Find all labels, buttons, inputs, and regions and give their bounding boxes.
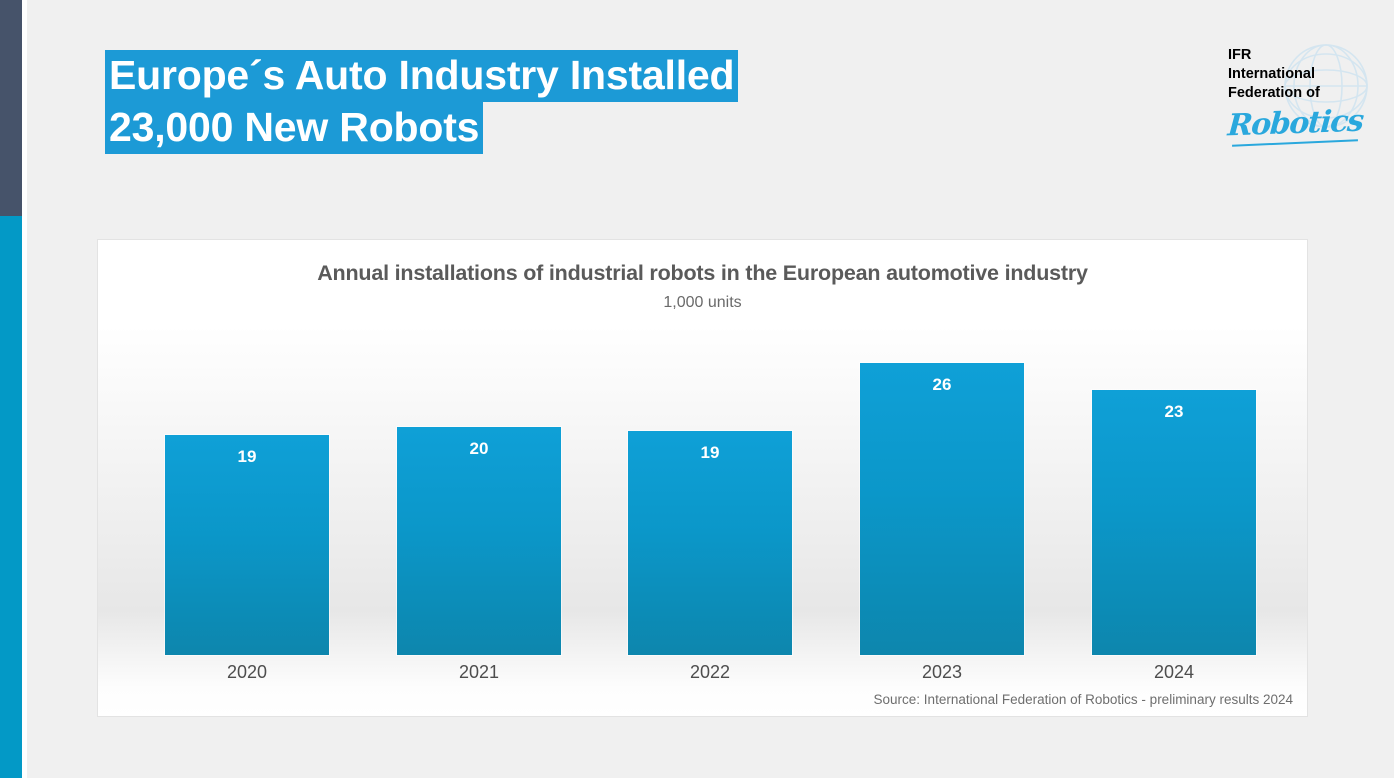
sidebar-divider [22, 0, 27, 778]
ifr-logo: IFR International Federation of Robotics [1228, 38, 1378, 153]
sidebar-accent-strip-bottom [0, 216, 22, 778]
ifr-logo-text: IFR International Federation of [1228, 46, 1320, 103]
ifr-logo-line-2: International [1228, 65, 1320, 84]
bar-2023[interactable]: 262023 [860, 363, 1024, 655]
ifr-logo-line-1: IFR [1228, 46, 1320, 65]
bar-2020[interactable]: 192020 [165, 435, 329, 655]
bar-chart-plot-area: 192020202021192022262023232024 [98, 240, 1309, 718]
bar-2024[interactable]: 232024 [1092, 390, 1256, 655]
bar-group-2023: 262023 [860, 363, 1024, 655]
bar-2022[interactable]: 192022 [628, 431, 792, 655]
bar-value-label-2024: 23 [1092, 402, 1256, 422]
slide-title-line-2: 23,000 New Robots [105, 102, 483, 154]
bar-value-label-2021: 20 [397, 439, 561, 459]
slide-title-line-1: Europe´s Auto Industry Installed [105, 50, 738, 102]
bar-value-label-2022: 19 [628, 443, 792, 463]
x-axis-label-2022: 2022 [628, 662, 792, 683]
ifr-logo-script-robotics: Robotics [1227, 104, 1364, 144]
bar-group-2020: 192020 [165, 435, 329, 655]
x-axis-label-2023: 2023 [860, 662, 1024, 683]
bar-group-2024: 232024 [1092, 390, 1256, 655]
x-axis-label-2024: 2024 [1092, 662, 1256, 683]
x-axis-label-2020: 2020 [165, 662, 329, 683]
bar-group-2021: 202021 [397, 427, 561, 655]
chart-source-note: Source: International Federation of Robo… [874, 692, 1293, 707]
bar-value-label-2020: 19 [165, 447, 329, 467]
chart-panel: Annual installations of industrial robot… [97, 239, 1308, 717]
bar-group-2022: 192022 [628, 431, 792, 655]
bar-value-label-2023: 26 [860, 375, 1024, 395]
bar-2021[interactable]: 202021 [397, 427, 561, 655]
sidebar-accent-strip-top [0, 0, 22, 216]
x-axis-label-2021: 2021 [397, 662, 561, 683]
ifr-logo-line-3: Federation of [1228, 84, 1320, 103]
slide-title: Europe´s Auto Industry Installed 23,000 … [105, 50, 865, 154]
